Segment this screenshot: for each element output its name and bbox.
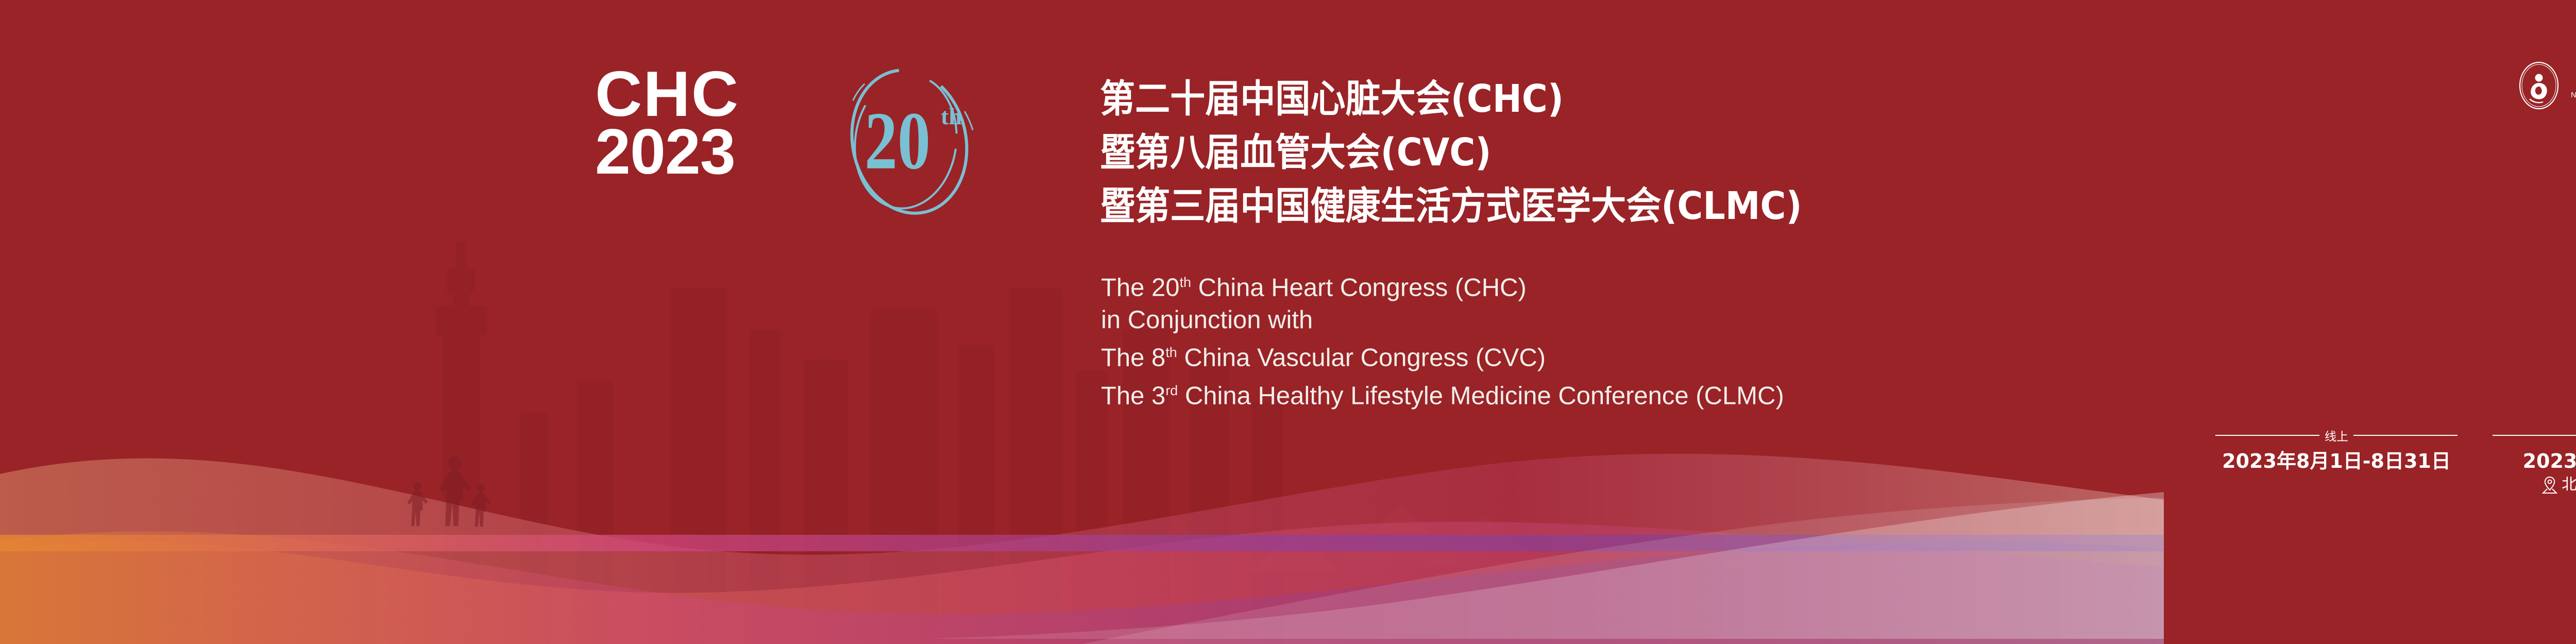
- rule-left: [2215, 435, 2319, 436]
- partner-logo-ncc: 国家心血管病中心 NATIONAL CENTER FOR CARDIOVASCU…: [2514, 61, 2576, 110]
- chinese-title-line-2: 暨第八届血管大会(CVC): [1100, 126, 1802, 179]
- schedule-offline: 线下 2023年9月1日-3日 北京国际会议中心: [2493, 427, 2576, 495]
- 20th-anniversary-medallion: 20 th: [840, 64, 976, 219]
- chc-year: 2023: [595, 122, 737, 182]
- english-title-line-3: The 8th China Vascular Congress (CVC): [1101, 336, 1784, 374]
- partner-ncc-en: NATIONAL CENTER FOR CARDIOVASCULAR DISEA…: [2571, 90, 2576, 100]
- schedule-offline-venue: 北京国际会议中心: [2493, 475, 2576, 495]
- schedule-offline-dates: 2023年9月1日-3日: [2493, 448, 2576, 474]
- english-title-line-3-post: China Vascular Congress (CVC): [1177, 344, 1546, 372]
- english-title-line-2: in Conjunction with: [1101, 304, 1784, 336]
- ncc-seal-icon: [2514, 61, 2564, 110]
- schedule-online-label: 线上: [2325, 427, 2348, 444]
- chinese-title-line-1: 第二十届中国心脏大会(CHC): [1100, 72, 1802, 126]
- rule-right: [2353, 435, 2458, 436]
- english-title-line-1-sup: th: [1180, 275, 1191, 290]
- schedule-block: 线上 2023年8月1日-8日31日 线下 2023年9月1日-3日 北京国际会…: [2215, 427, 2576, 495]
- schedule-offline-header: 线下: [2493, 427, 2576, 444]
- english-title-line-1-post: China Heart Congress (CHC): [1191, 274, 1527, 301]
- chinese-title-group: 第二十届中国心脏大会(CHC) 暨第八届血管大会(CVC) 暨第三届中国健康生活…: [1100, 72, 1863, 233]
- chc-acronym: CHC: [595, 67, 739, 122]
- schedule-online-dates: 2023年8月1日-8日31日: [2215, 448, 2458, 474]
- english-title-group: The 20th China Heart Congress (CHC) in C…: [1101, 266, 1784, 412]
- chc-2023-conference-banner: CHC 2023 20 th 第二十届中国心脏大会(CHC) 暨第八届血管大会(…: [0, 0, 2576, 644]
- schedule-online: 线上 2023年8月1日-8日31日: [2215, 427, 2458, 495]
- english-title-line-4: The 3rd China Healthy Lifestyle Medicine…: [1101, 375, 1784, 412]
- english-title-line-1: The 20th China Heart Congress (CHC): [1101, 266, 1784, 304]
- rule-left: [2493, 435, 2576, 436]
- partner-logo-row: 国家心血管病中心 NATIONAL CENTER FOR CARDIOVASCU…: [2514, 61, 2576, 110]
- location-pin-icon: [2542, 476, 2557, 494]
- schedule-online-header: 线上: [2215, 427, 2458, 444]
- chinese-title-line-3: 暨第三届中国健康生活方式医学大会(CLMC): [1100, 179, 1802, 233]
- schedule-offline-venue-text: 北京国际会议中心: [2562, 475, 2576, 495]
- english-title-line-3-sup: th: [1165, 345, 1177, 360]
- english-title-line-3-pre: The 8: [1101, 344, 1165, 372]
- english-title-line-4-sup: rd: [1165, 383, 1178, 398]
- english-title-line-4-pre: The 3: [1101, 382, 1165, 410]
- anniversary-suffix: th: [941, 103, 962, 130]
- english-title-line-4-post: China Healthy Lifestyle Medicine Confere…: [1178, 382, 1784, 410]
- english-title-line-1-pre: The 20: [1101, 274, 1180, 301]
- chc-logo: CHC 2023: [595, 67, 737, 182]
- anniversary-number: 20: [865, 99, 930, 182]
